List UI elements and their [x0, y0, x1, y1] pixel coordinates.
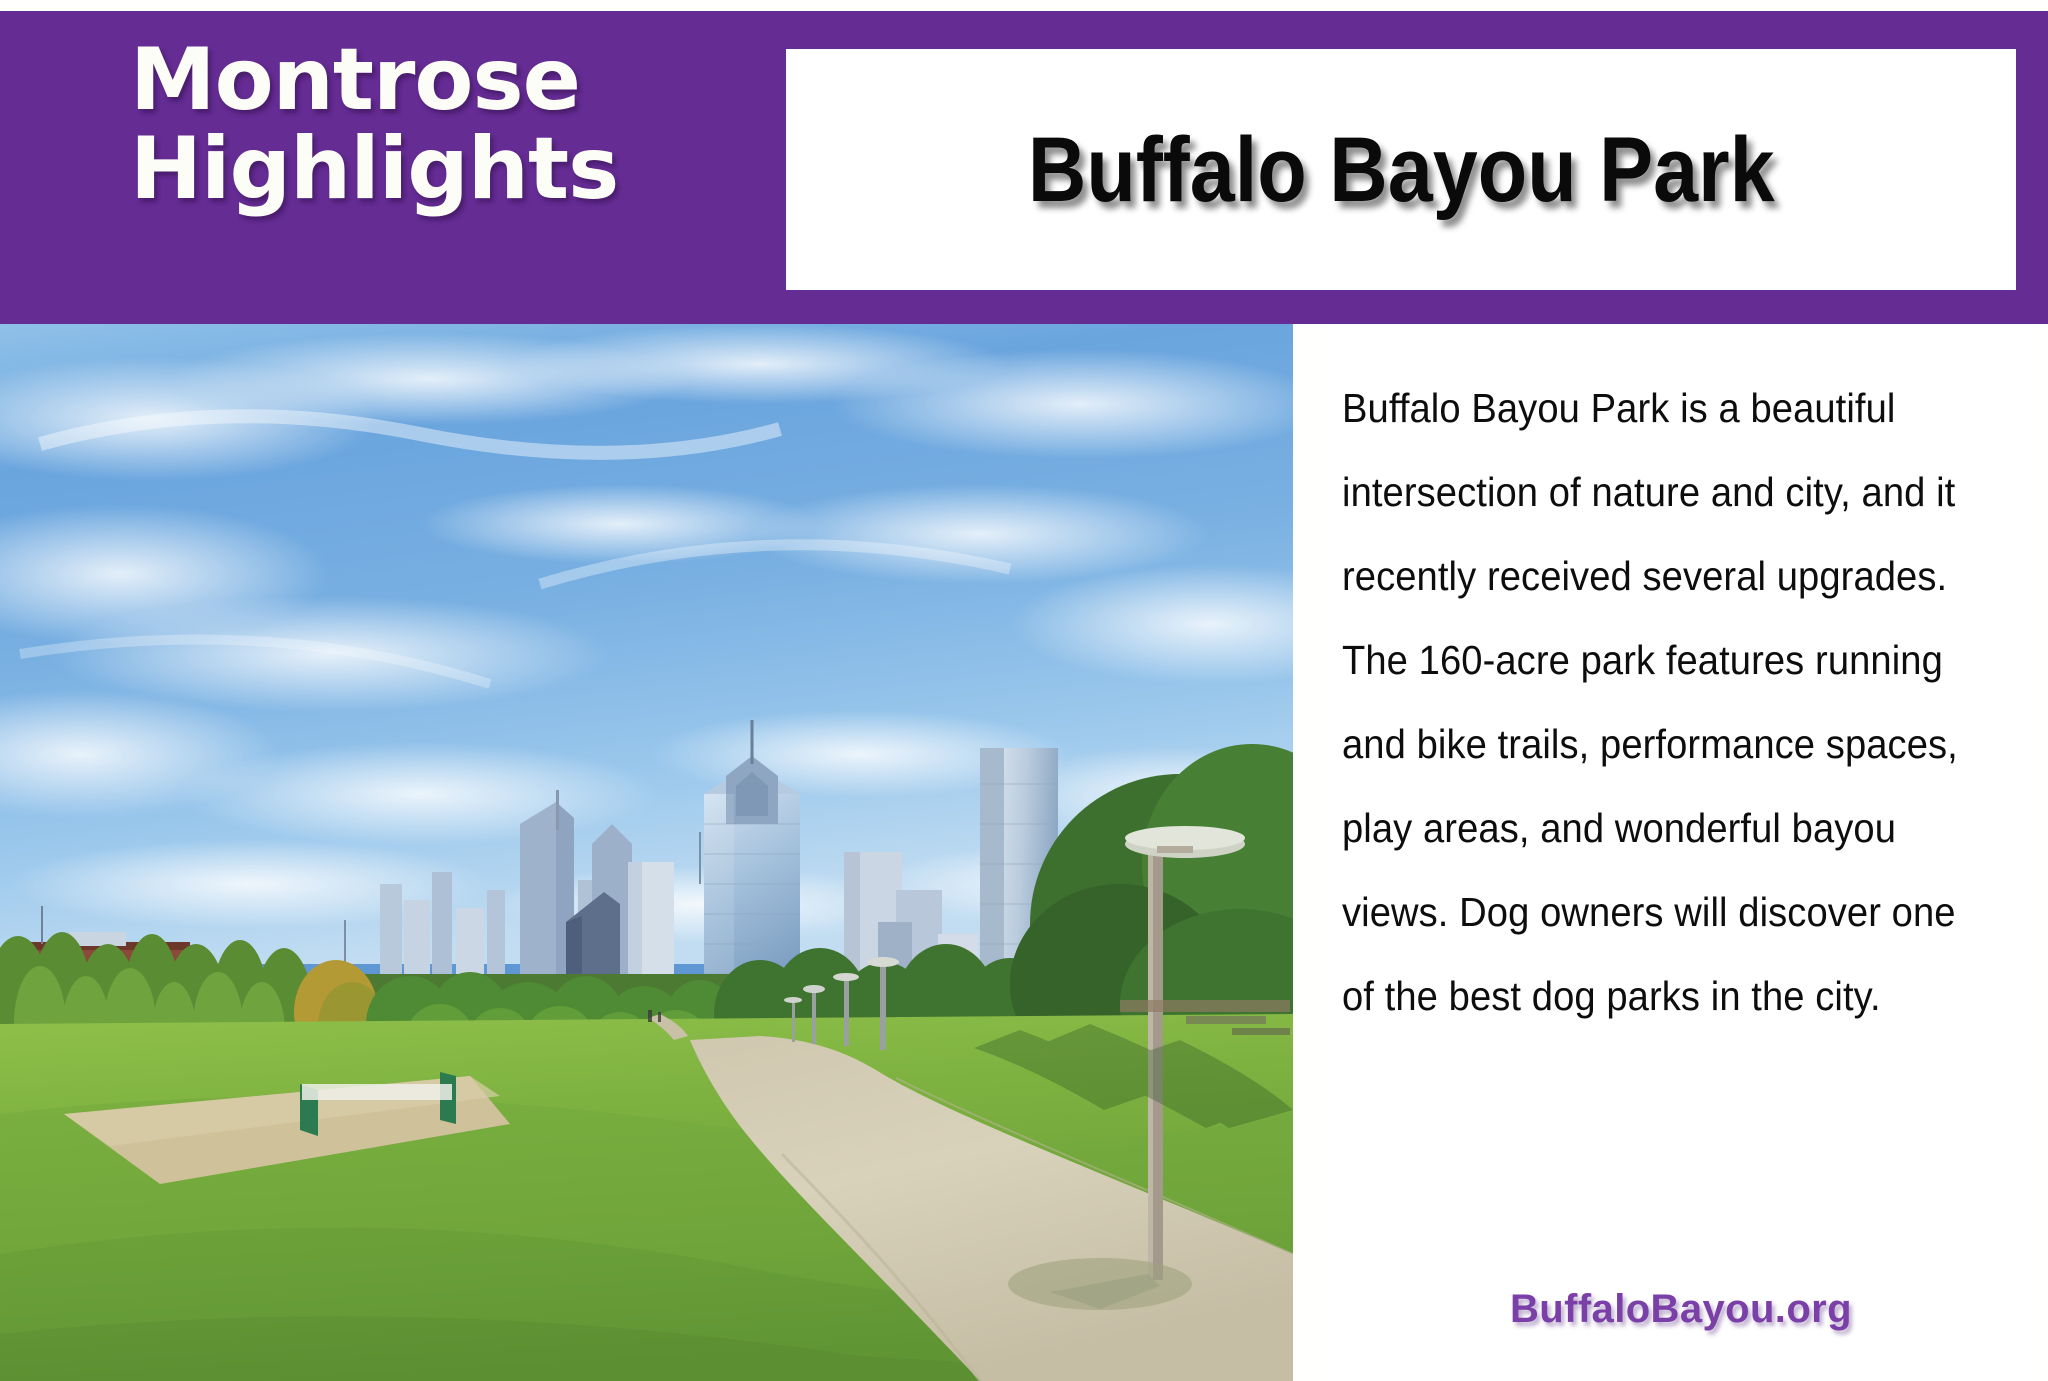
volleyball-net [302, 1084, 452, 1100]
poster-canvas: Montrose Highlights Buffalo Bayou Park [0, 0, 2048, 1381]
body-line: intersection of nature and city, and it [1342, 450, 1984, 534]
body-paragraph: Buffalo Bayou Park is a beautiful inters… [1342, 366, 1984, 1038]
park-photo [0, 324, 1293, 1381]
copy-column: Buffalo Bayou Park is a beautiful inters… [1330, 324, 2030, 1381]
body-line: of the best dog parks in the city. [1342, 954, 1984, 1038]
body-line: views. Dog owners will discover one [1342, 870, 1984, 954]
body-line: and bike trails, performance spaces, [1342, 702, 1984, 786]
body-line: The 160-acre park features running [1342, 618, 1984, 702]
page-title: Buffalo Bayou Park [1028, 124, 1775, 216]
body-line: Buffalo Bayou Park is a beautiful [1342, 366, 1984, 450]
body-line: recently received several upgrades. [1342, 534, 1984, 618]
website-link[interactable]: BuffaloBayou.org [1510, 1287, 1852, 1332]
park-photo-illustration [0, 324, 1293, 1381]
headline-plate: Buffalo Bayou Park [786, 49, 2016, 290]
body-line: play areas, and wonderful bayou [1342, 786, 1984, 870]
brand-title: Montrose Highlights [130, 36, 750, 213]
